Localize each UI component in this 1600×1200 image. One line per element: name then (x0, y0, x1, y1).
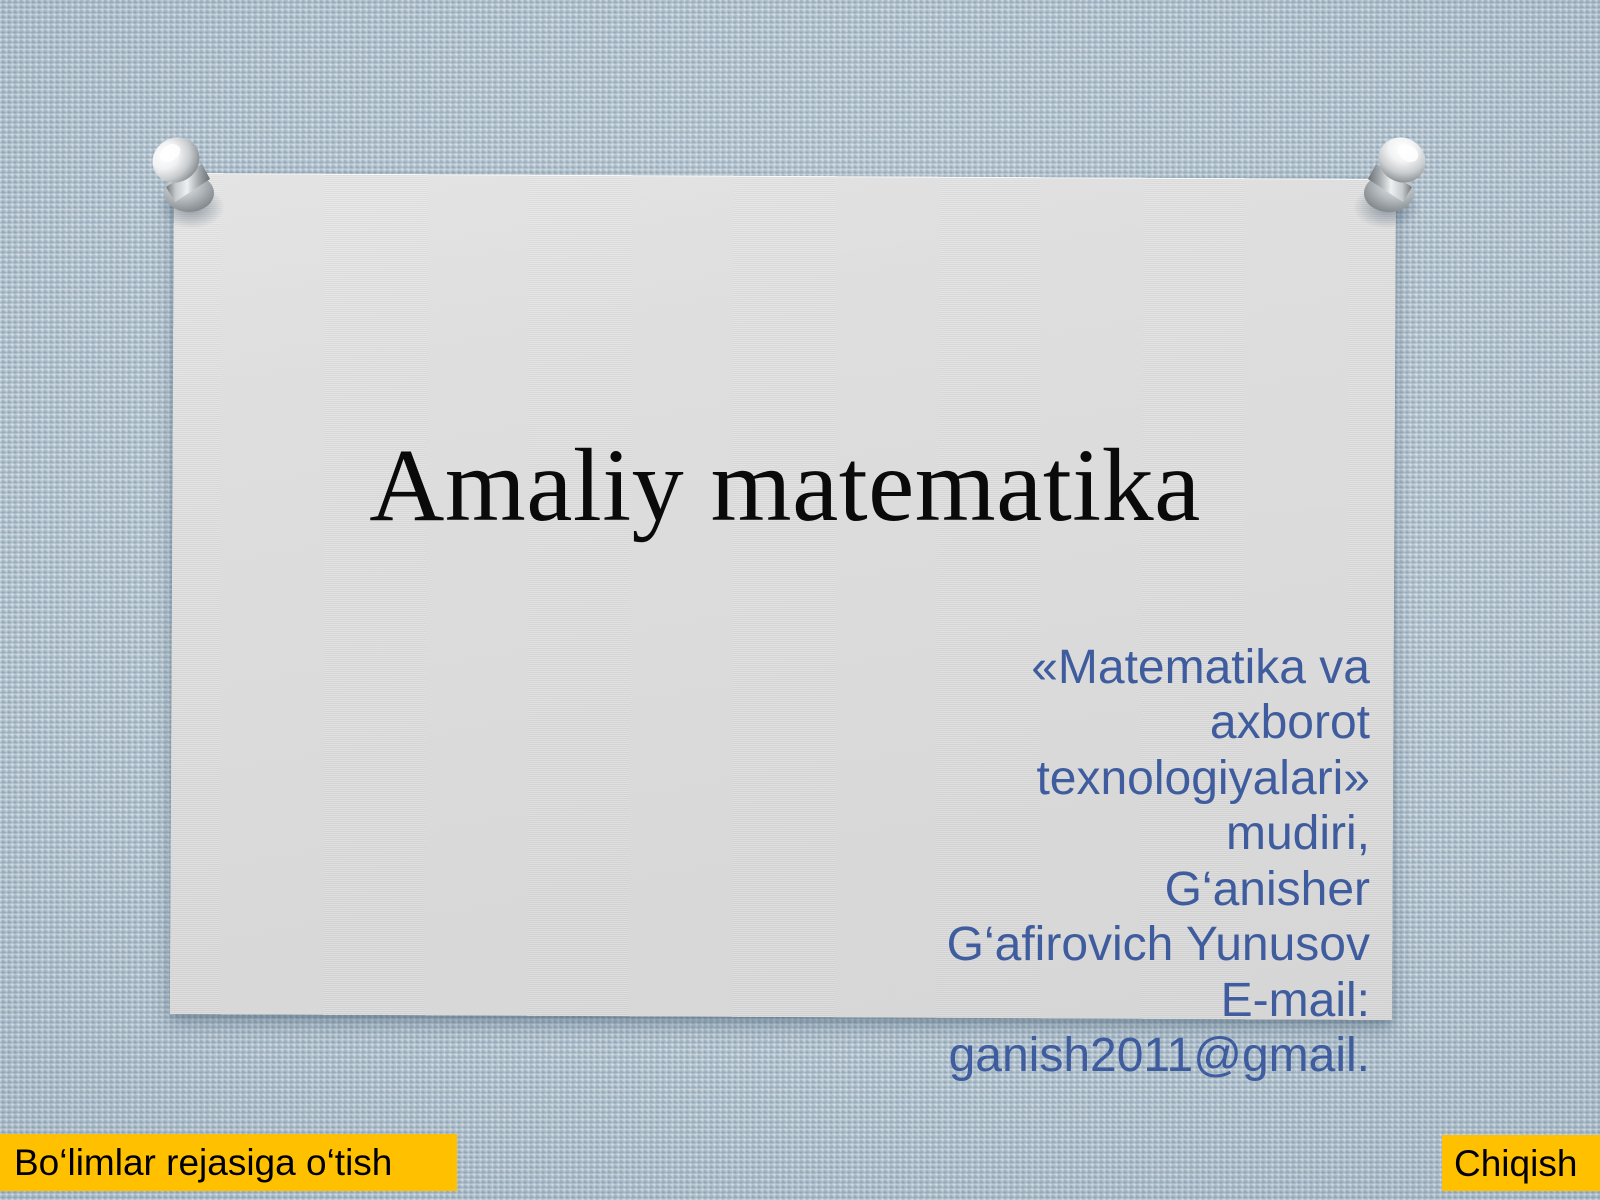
subtitle-line: G‘anisher (860, 862, 1370, 917)
subtitle-line: G‘afirovich Yunusov (860, 917, 1370, 972)
exit-button[interactable]: Chiqish (1442, 1135, 1600, 1191)
presentation-slide: Amaliy matematika «Matematika va axborot… (0, 0, 1600, 1200)
subtitle-line: texnologiyalari» (860, 751, 1370, 806)
subtitle-line: E-mail: (860, 973, 1370, 1028)
subtitle-line-email: ganish2011@gmail. (860, 1028, 1370, 1083)
back-to-sections-button[interactable]: Bo‘limlar rejasiga o‘tish (0, 1134, 457, 1191)
page-title: Amaliy matematika (180, 432, 1390, 540)
card-container: Amaliy matematika «Matematika va axborot… (0, 0, 1600, 1200)
subtitle-line: axborot (860, 695, 1370, 750)
subtitle-block: «Matematika va axborot texnologiyalari» … (860, 640, 1370, 1084)
subtitle-line: mudiri, (860, 806, 1370, 861)
exit-label: Chiqish (1454, 1145, 1577, 1182)
subtitle-line: «Matematika va (860, 640, 1370, 695)
back-to-sections-label: Bo‘limlar rejasiga o‘tish (14, 1144, 392, 1181)
